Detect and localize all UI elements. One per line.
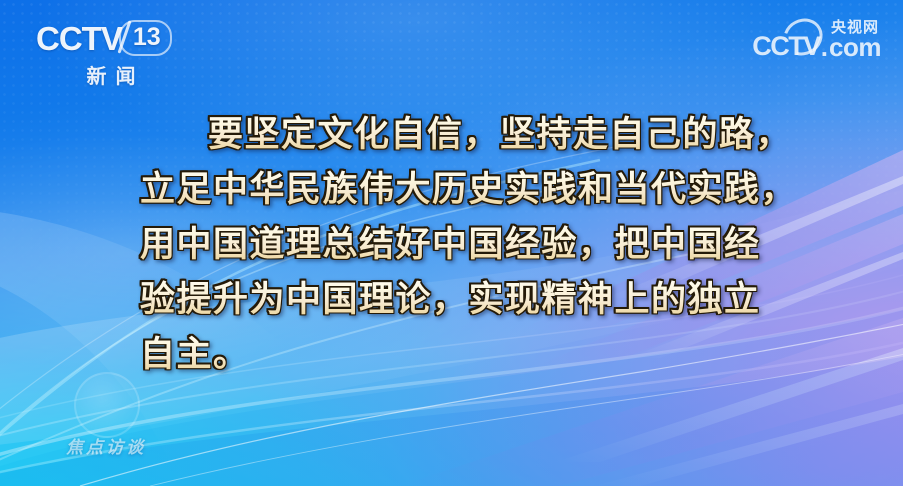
cctv-com-watermark: 央视网 CCTV . com — [752, 16, 881, 60]
cctv-wordmark: CCTV — [36, 22, 122, 55]
cctv13-channel-logo: CCTV 13 新闻 — [36, 20, 186, 89]
channel-number-label: 13 — [133, 23, 161, 51]
cctv-com-tld: com — [829, 35, 881, 60]
cctv13-logo-row: CCTV 13 — [36, 20, 186, 56]
quote-line-3: 用中国道理总结好中国经验，把中国经 — [140, 218, 903, 273]
broadcast-quote-card: CCTV 13 新闻 央视网 CCTV . com 要坚定文化自信，坚持走自己的… — [0, 0, 903, 486]
program-watermark-glyph-icon — [74, 372, 140, 438]
channel-subtitle: 新闻 — [36, 60, 186, 89]
quote-line-1: 要坚定文化自信，坚持走自己的路， — [140, 108, 903, 163]
quote-text-block: 要坚定文化自信，坚持走自己的路， 立足中华民族伟大历史实践和当代实践， 用中国道… — [0, 108, 903, 383]
program-watermark-label: 焦点访谈 — [66, 433, 146, 458]
quote-line-4: 验提升为中国理论，实现精神上的独立 — [140, 273, 903, 328]
quote-line-2: 立足中华民族伟大历史实践和当代实践， — [140, 163, 903, 218]
channel-number-badge: 13 — [119, 20, 172, 56]
quote-line-5: 自主。 — [140, 328, 903, 383]
